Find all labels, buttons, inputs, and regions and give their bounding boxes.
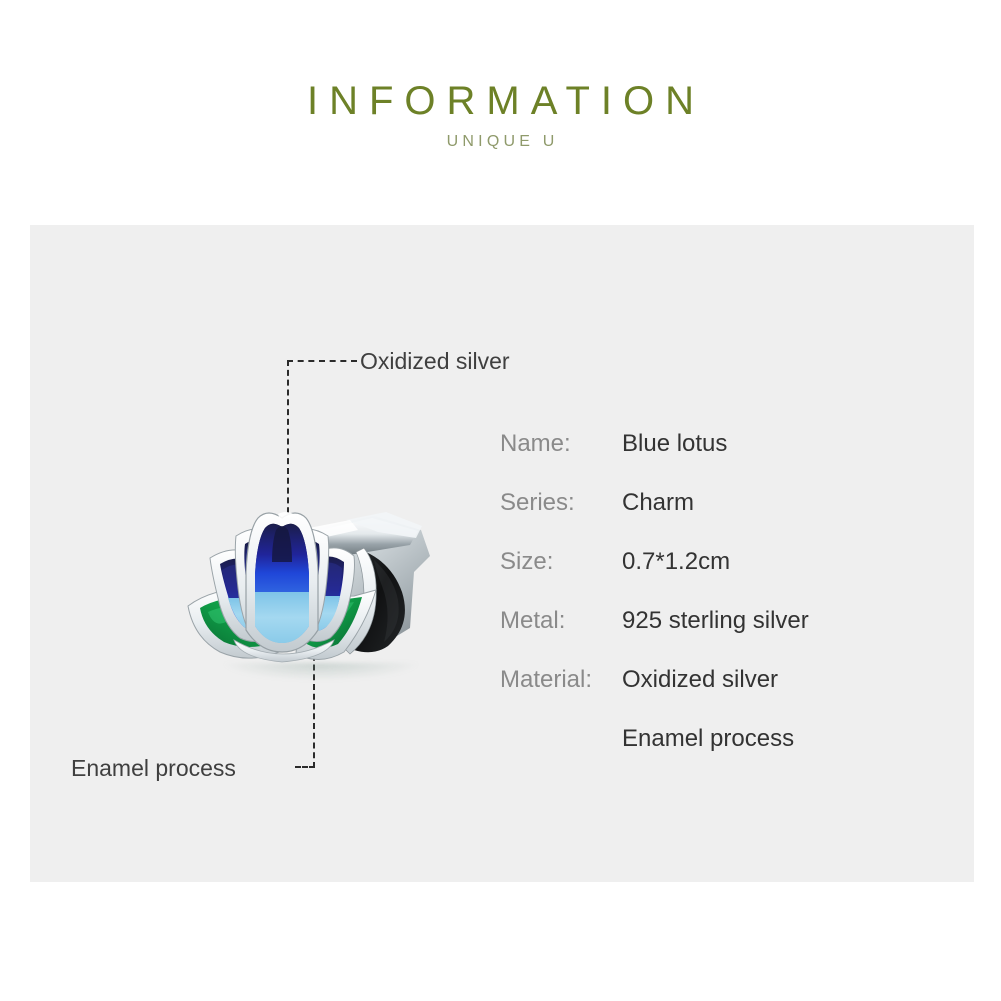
- page-header: INFORMATION UNIQUE U: [0, 0, 1001, 200]
- page-title: INFORMATION: [0, 79, 1001, 124]
- product-image-blue-lotus-charm: [178, 500, 468, 700]
- leader-horizontal-segment: [295, 766, 315, 768]
- information-page: INFORMATION UNIQUE U Oxidized silver Ena…: [0, 0, 1001, 1001]
- leader-horizontal-segment: [287, 360, 357, 362]
- table-row: Series: Charm: [500, 489, 809, 548]
- spec-value-series: Charm: [622, 489, 694, 517]
- annotation-label-enamel-process: Enamel process: [71, 755, 236, 782]
- table-row: Metal: 925 sterling silver: [500, 607, 809, 666]
- annotation-label-oxidized-silver: Oxidized silver: [360, 348, 510, 375]
- spec-label-metal: Metal:: [500, 607, 622, 635]
- spec-value-metal: 925 sterling silver: [622, 607, 809, 635]
- spec-label-material: Material:: [500, 666, 622, 694]
- spec-value-size: 0.7*1.2cm: [622, 548, 730, 576]
- spec-label-series: Series:: [500, 489, 622, 517]
- spec-value-material: Oxidized silver: [622, 666, 778, 694]
- table-row: Name: Blue lotus: [500, 430, 809, 489]
- leader-vertical-segment: [287, 360, 289, 523]
- page-subtitle: UNIQUE U: [0, 133, 1001, 151]
- table-row: Size: 0.7*1.2cm: [500, 548, 809, 607]
- lotus-charm-illustration: [178, 500, 468, 700]
- spec-label-name: Name:: [500, 430, 622, 458]
- spec-value-material-secondary: Enamel process: [622, 725, 794, 753]
- product-specs-table: Name: Blue lotus Series: Charm Size: 0.7…: [500, 430, 809, 784]
- table-row: Material: Oxidized silver: [500, 666, 809, 725]
- charm-petal-center: [246, 513, 318, 652]
- table-row: Enamel process: [500, 725, 809, 784]
- spec-value-name: Blue lotus: [622, 430, 727, 458]
- spec-label-size: Size:: [500, 548, 622, 576]
